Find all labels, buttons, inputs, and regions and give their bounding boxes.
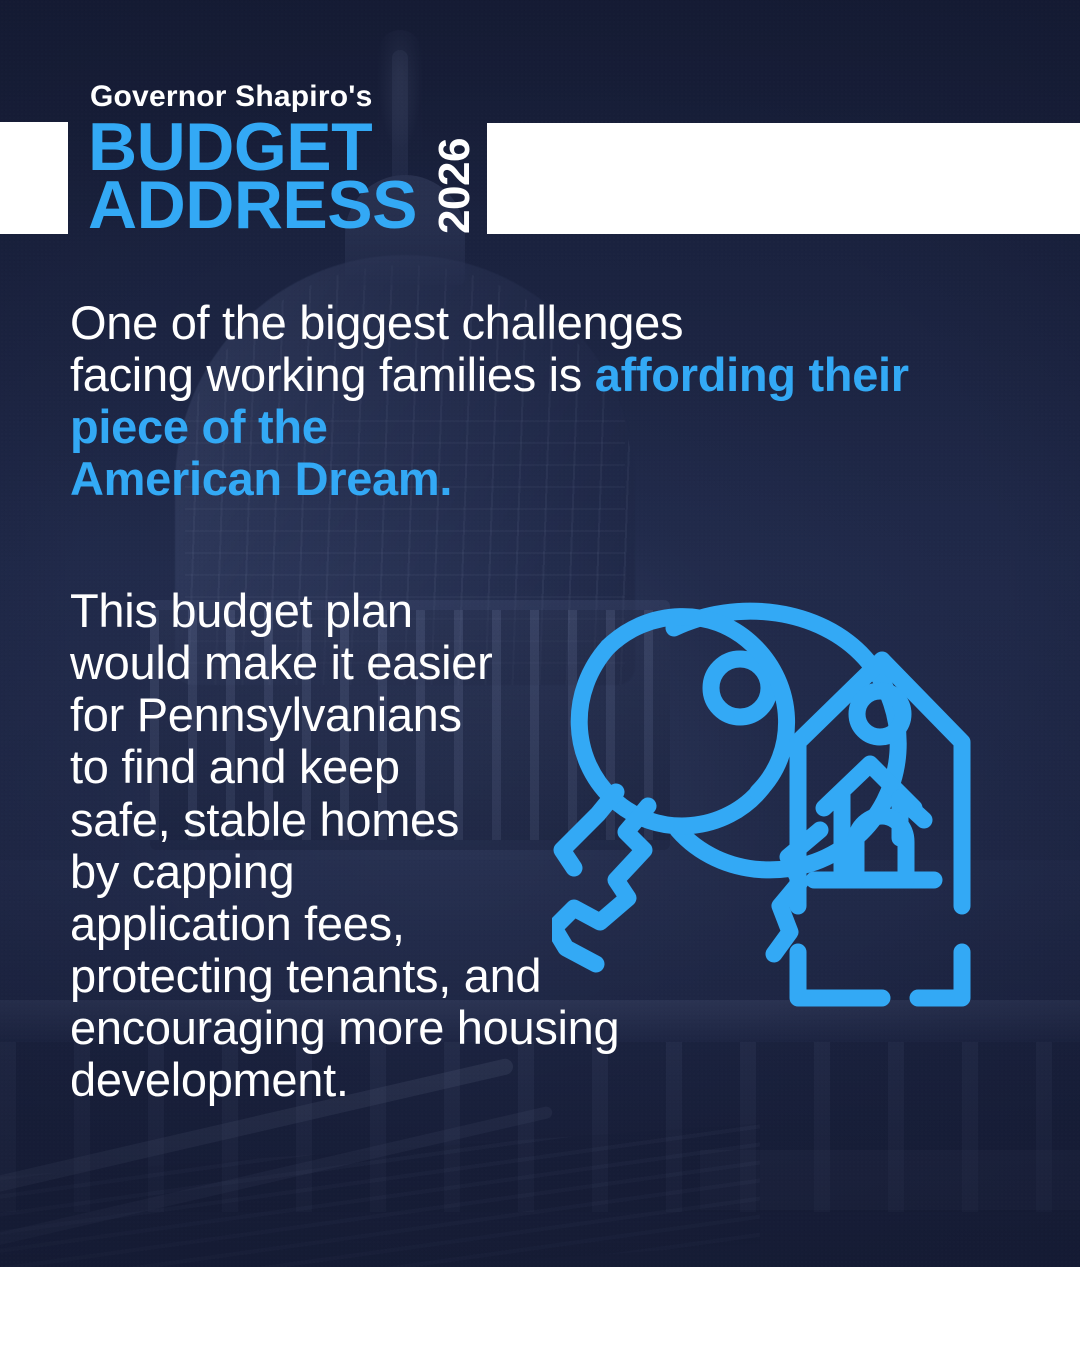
bottom-white-strip [0, 1267, 1080, 1350]
headline-paragraph: One of the biggest challenges facing wor… [70, 297, 940, 506]
header-year-rotated: 2026 [399, 118, 511, 230]
header-year-label: 2026 [430, 99, 480, 273]
budget-address-graphic: Governor Shapiro's BUDGET ADDRESS 2026 O… [0, 0, 1080, 1350]
keys-house-icon [552, 592, 1052, 1054]
key-back [674, 611, 898, 954]
header-title-line-2: ADDRESS [88, 171, 417, 239]
headline-plain-text: One of the biggest challenges facing wor… [70, 296, 683, 401]
header-bar-left [0, 122, 68, 234]
header-bar-right [487, 123, 1080, 234]
